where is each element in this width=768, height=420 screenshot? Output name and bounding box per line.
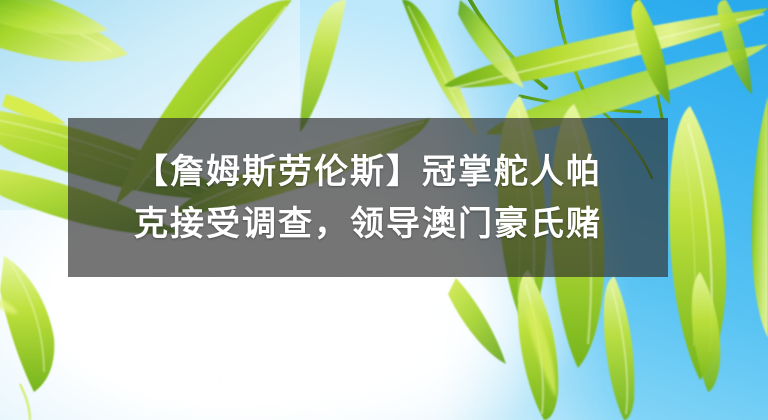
caption-line-2: 克接受调查，领导澳门豪氏赌 bbox=[134, 207, 602, 241]
caption-line-1: 【詹姆斯劳伦斯】冠掌舵人帕 bbox=[134, 155, 602, 189]
banner-image: 【詹姆斯劳伦斯】冠掌舵人帕 克接受调查，领导澳门豪氏赌 bbox=[0, 0, 768, 420]
caption-overlay-bar: 【詹姆斯劳伦斯】冠掌舵人帕 克接受调查，领导澳门豪氏赌 bbox=[68, 118, 668, 277]
